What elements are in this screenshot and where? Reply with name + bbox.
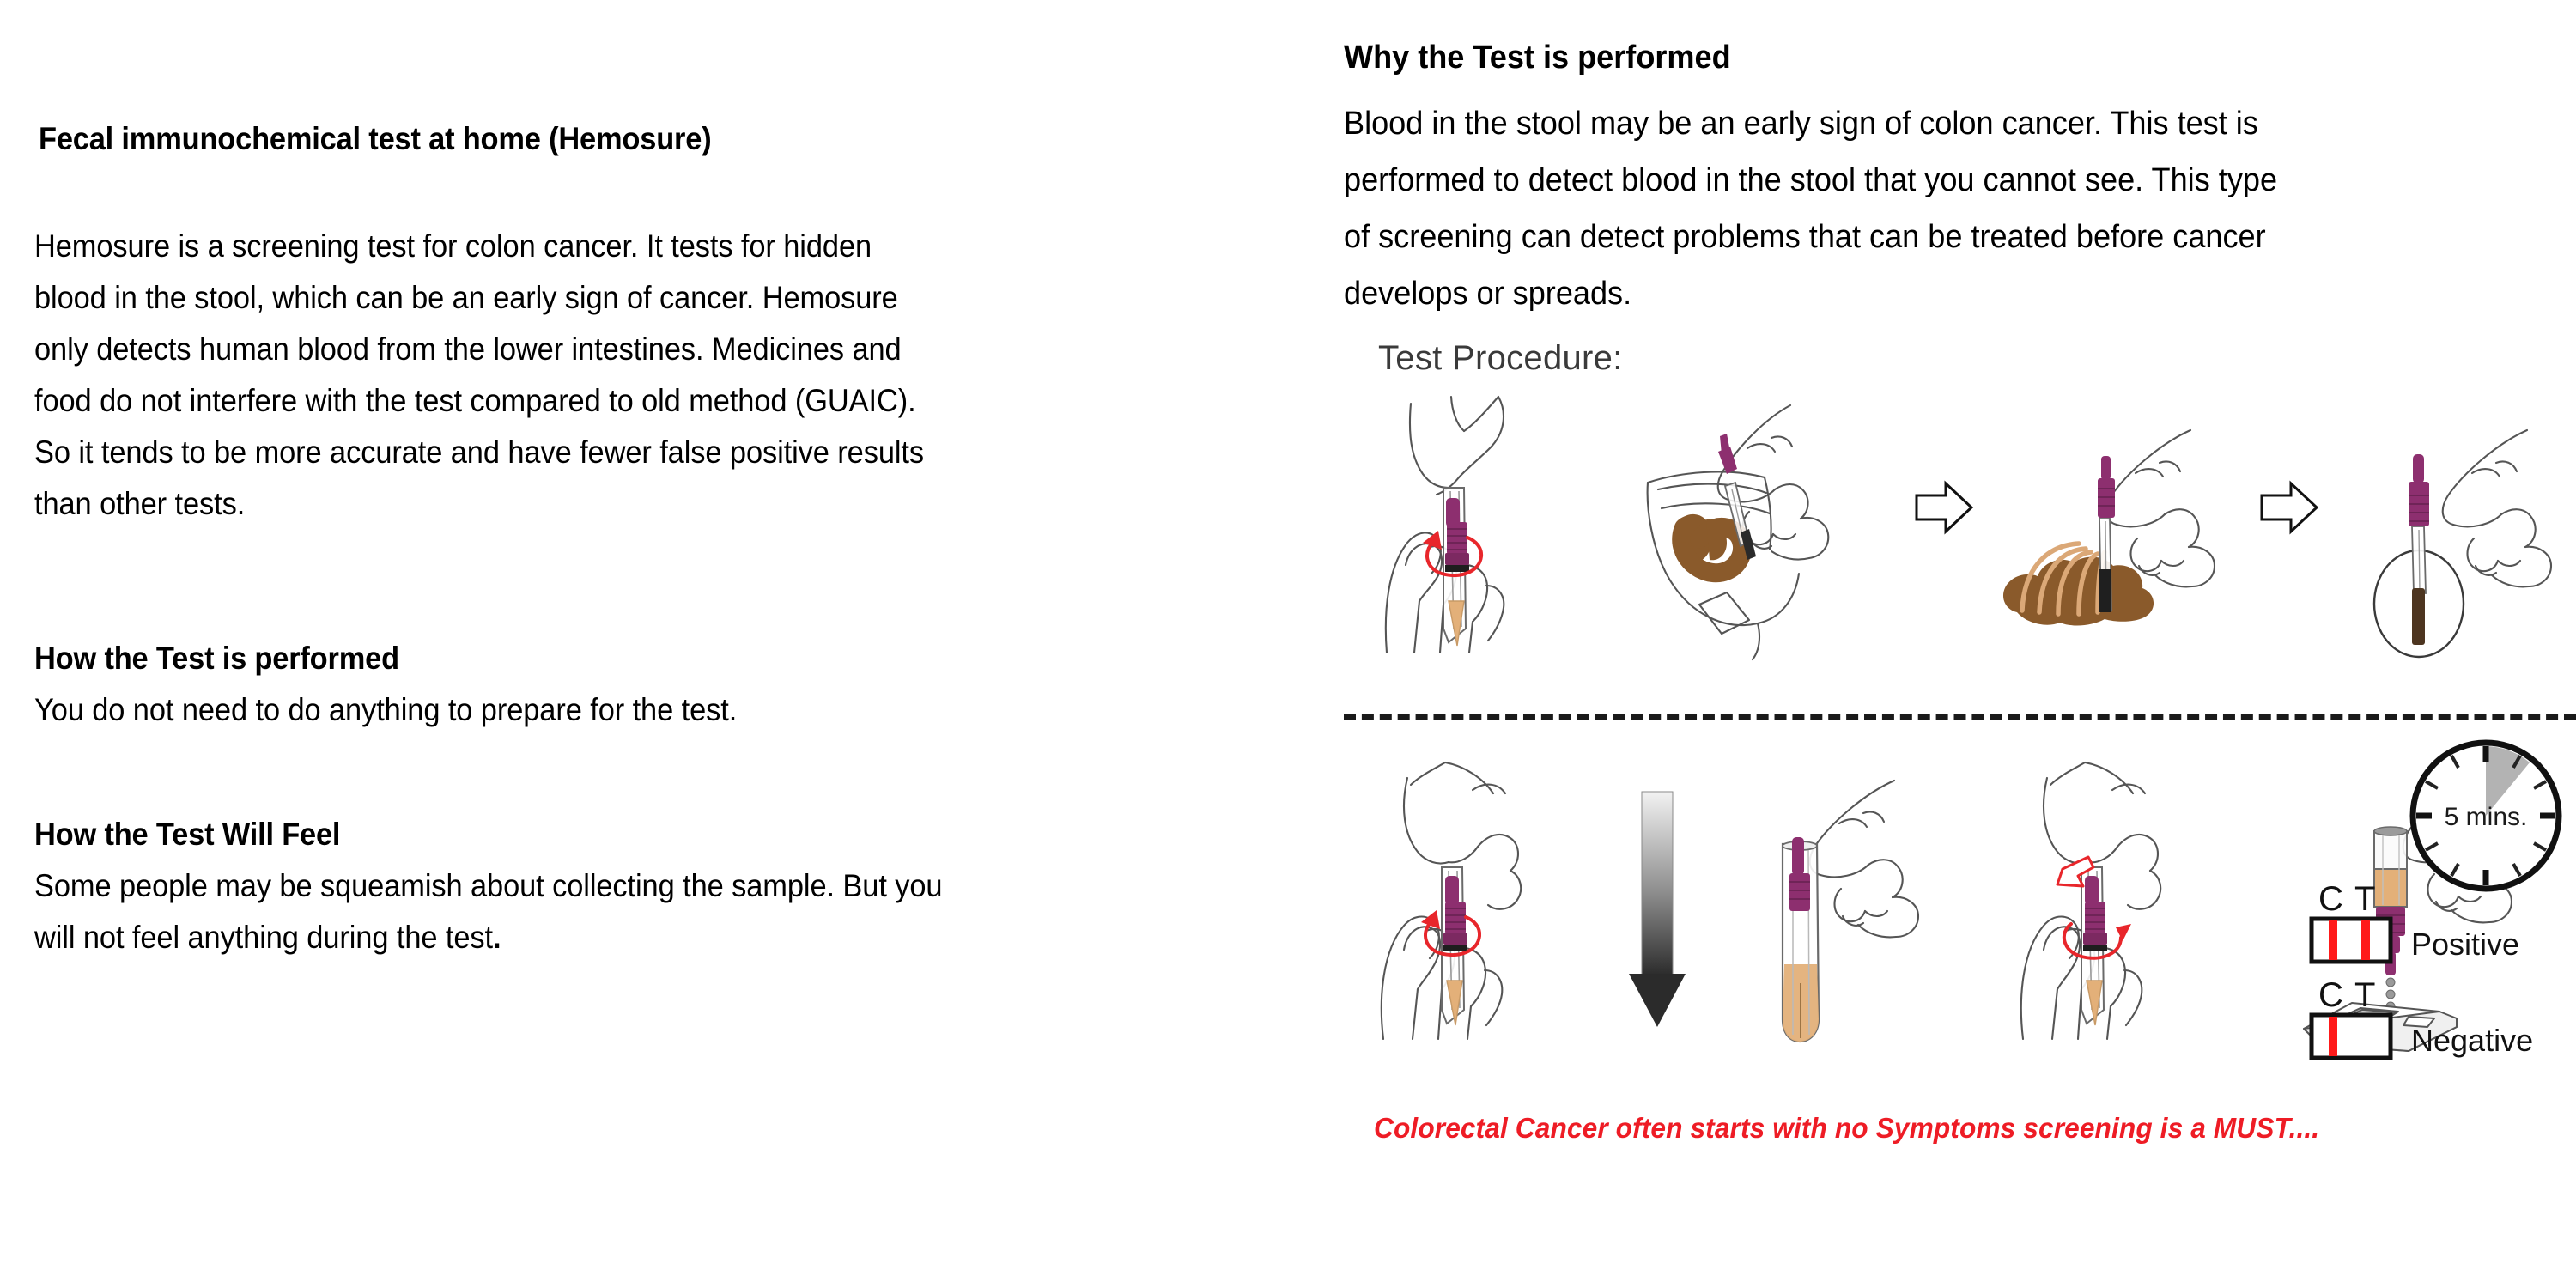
illustration-step-reinsert-probe [1370,756,1584,1048]
left-column: Fecal immunochemical test at home (Hemos… [34,0,1322,1288]
section-0-line-1: You do not need to do anything to prepar… [34,691,737,729]
positive-test-label: T [2354,880,2375,918]
illustration-step-probe-into-stool [1996,425,2254,674]
section-heading-how-performed: How the Test is performed [34,640,399,677]
intro-line-3: only detects human blood from the lower … [34,331,902,368]
timer-clock-icon: 5 mins. [2404,734,2567,897]
why-line-2: performed to detect blood in the stool t… [1344,161,2277,199]
timer-label: 5 mins. [2445,803,2528,831]
illustration-step-shake-tube [1709,777,1966,1052]
section-heading-how-feel: How the Test Will Feel [34,816,340,854]
flow-arrow-icon-1 [1913,477,1975,538]
section-1-line-2: will not feel anything during the test. [34,919,501,957]
illustration-step-twist-cap-open [1370,395,1584,670]
intro-line-2: blood in the stool, which can be an earl… [34,279,898,317]
why-line-3: of screening can detect problems that ca… [1344,218,2266,256]
section-heading-why-performed: Why the Test is performed [1344,39,1731,76]
section-1-line-1: Some people may be squeamish about colle… [34,867,942,905]
positive-control-label: C [2318,880,2343,918]
procedure-label: Test Procedure: [1378,339,1623,378]
document-page: Fecal immunochemical test at home (Hemos… [0,0,2576,1288]
illustration-step-collect-on-paper [1644,404,1902,661]
section-divider [1344,714,2576,720]
illustration-step-inspect-grooves [2340,425,2576,674]
page-title: Fecal immunochemical test at home (Hemos… [39,120,711,158]
negative-test-label: T [2354,976,2375,1014]
result-legend: C T Positive C T Negative [2301,876,2576,1073]
footer-warning-note: Colorectal Cancer often starts with no S… [1374,1112,2319,1145]
flow-arrow-icon-2 [2258,477,2320,538]
section-1-line-2-text: will not feel anything during the test [34,920,493,955]
intro-line-5: So it tends to be more accurate and have… [34,434,924,471]
negative-result-label: Negative [2411,1023,2533,1058]
illustration-step-twist-cap-closed [2009,756,2224,1048]
positive-result-label: Positive [2411,927,2519,962]
why-line-4: develops or spreads. [1344,275,1631,313]
intro-line-4: food do not interfere with the test comp… [34,382,916,420]
right-column: Why the Test is performed Blood in the s… [1331,0,2576,1288]
section-1-trailing-period: . [493,920,501,955]
intro-line-6: than other tests. [34,485,245,523]
intro-line-1: Hemosure is a screening test for colon c… [34,228,872,265]
negative-control-label: C [2318,976,2343,1014]
why-line-1: Blood in the stool may be an early sign … [1344,105,2258,143]
downward-arrow-icon [1627,790,1687,1030]
